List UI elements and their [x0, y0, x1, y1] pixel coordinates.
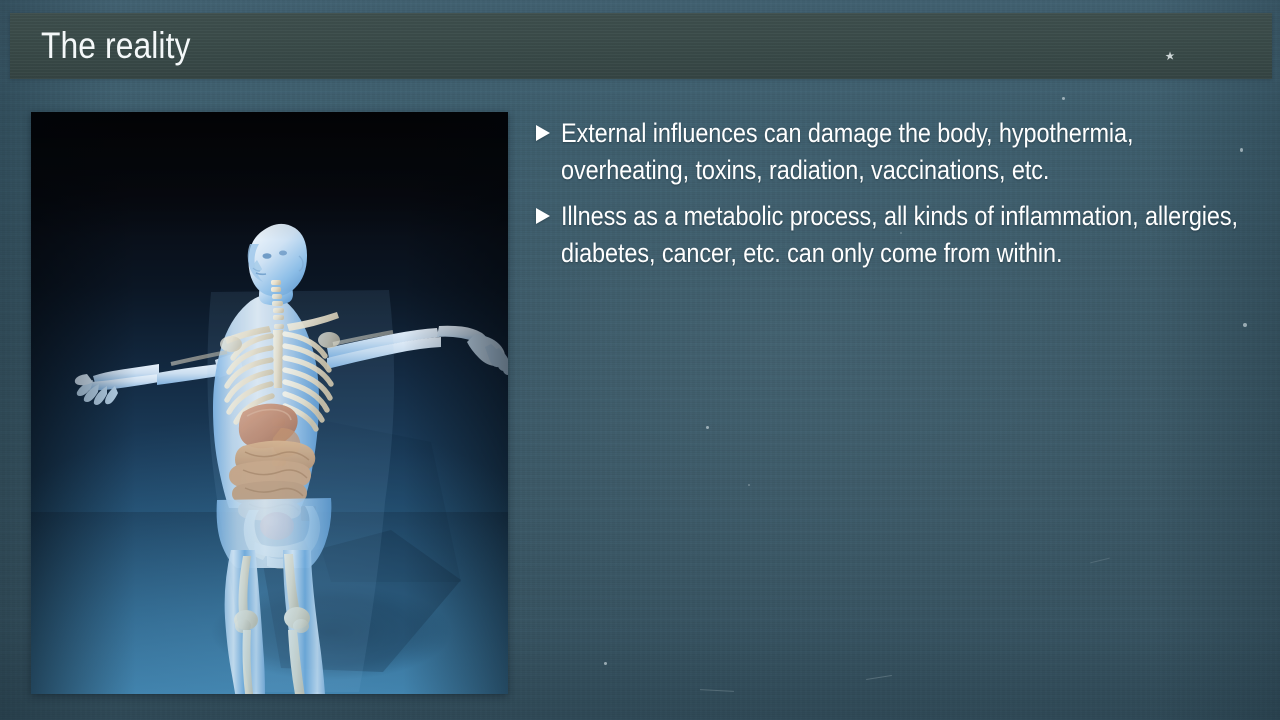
background-speck [706, 426, 709, 429]
bullet-text: External influences can damage the body,… [561, 115, 1252, 188]
triangle-right-bullet-icon [536, 125, 550, 141]
background-scratch [1090, 558, 1110, 564]
background-speck [1062, 97, 1065, 100]
slide-body-content: External influences can damage the body,… [536, 115, 1252, 281]
anatomical-human-figure-image [31, 112, 508, 694]
slide-title-band: The reality [10, 13, 1272, 79]
list-item: External influences can damage the body,… [536, 115, 1252, 188]
presentation-slide: The reality [0, 0, 1280, 720]
background-scratch [700, 689, 734, 692]
background-speck [748, 484, 750, 486]
anatomy-illustration [31, 112, 508, 694]
triangle-right-bullet-icon [536, 208, 550, 224]
background-scratch [866, 675, 892, 680]
bullet-text: Illness as a metabolic process, all kind… [561, 198, 1252, 271]
page-title: The reality [41, 27, 191, 64]
background-speck [1243, 323, 1247, 327]
band-texture [10, 13, 1272, 79]
background-speck [604, 662, 607, 665]
list-item: Illness as a metabolic process, all kind… [536, 198, 1252, 271]
